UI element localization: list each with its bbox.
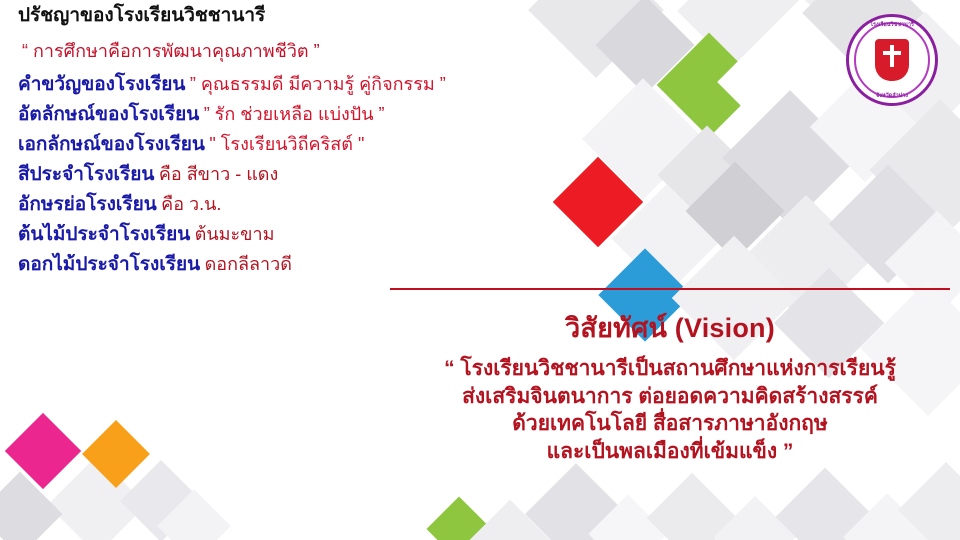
vision-title: วิสัยทัศน์ (Vision) <box>390 306 950 349</box>
logo-text-bottom: จังหวัดลำปาง <box>846 92 938 100</box>
vision-title-th: วิสัยทัศน์ ( <box>565 313 684 343</box>
item-value: ดอกลีลาวดี <box>205 254 292 274</box>
item-label: อักษรย่อโรงเรียน <box>18 194 157 215</box>
slide-canvas: ปรัชญาของโรงเรียนวิชชานารี “ การศึกษาคือ… <box>0 0 960 540</box>
list-item: สีประจำโรงเรียน คือ สีขาว - แดง <box>18 165 538 184</box>
vision-text: “ โรงเรียนวิชชานารีเป็นสถานศึกษาแห่งการเ… <box>390 355 950 466</box>
page-title: ปรัชญาของโรงเรียนวิชชานารี <box>18 6 538 25</box>
logo-crest-icon <box>875 39 909 81</box>
item-label: ดอกไม้ประจำโรงเรียน <box>18 254 200 275</box>
vision-line: “ โรงเรียนวิชชานารีเป็นสถานศึกษาแห่งการเ… <box>390 355 950 383</box>
philosophy-quote: “ การศึกษาคือการพัฒนาคุณภาพชีวิต ” <box>18 42 538 60</box>
item-value: คือ ว.น. <box>161 194 221 214</box>
list-item: ต้นไม้ประจำโรงเรียน ต้นมะขาม <box>18 225 538 244</box>
vision-line: และเป็นพลเมืองที่เข้มแข็ง ” <box>390 438 950 466</box>
item-value: ต้นมะขาม <box>195 224 275 244</box>
item-value: ” รัก ช่วยเหลือ แบ่งปัน ” <box>204 104 385 124</box>
vision-line: ส่งเสริมจินตนาการ ต่อยอดความคิดสร้างสรรค… <box>390 383 950 411</box>
list-item: อักษรย่อโรงเรียน คือ ว.น. <box>18 195 538 214</box>
item-label: ต้นไม้ประจำโรงเรียน <box>18 224 190 245</box>
vision-title-en: Vision <box>684 313 766 343</box>
item-label: อัตลักษณ์ของโรงเรียน <box>18 104 199 125</box>
item-value: " โรงเรียนวิถีคริสต์ " <box>209 134 364 154</box>
vision-line: ด้วยเทคโนโลยี สื่อสารภาษาอังกฤษ <box>390 410 950 438</box>
list-item: อัตลักษณ์ของโรงเรียน ” รัก ช่วยเหลือ แบ่… <box>18 105 538 124</box>
item-value: ” คุณธรรมดี มีความรู้ คู่กิจกรรม ” <box>190 74 446 94</box>
list-item: คำขวัญของโรงเรียน ” คุณธรรมดี มีความรู้ … <box>18 75 538 94</box>
item-label: เอกลักษณ์ของโรงเรียน <box>18 134 205 155</box>
philosophy-text-block: ปรัชญาของโรงเรียนวิชชานารี “ การศึกษาคือ… <box>18 6 538 285</box>
item-label: สีประจำโรงเรียน <box>18 164 154 185</box>
school-crest-logo: โรงเรียนวิชชานารี จังหวัดลำปาง <box>846 14 938 106</box>
logo-text-top: โรงเรียนวิชชานารี <box>846 21 938 29</box>
item-value: คือ สีขาว - แดง <box>159 164 278 184</box>
decorative-square <box>0 472 62 540</box>
vision-title-close: ) <box>766 313 775 343</box>
item-label: คำขวัญของโรงเรียน <box>18 74 185 95</box>
vision-block: วิสัยทัศน์ (Vision) “ โรงเรียนวิชชานารีเ… <box>390 288 950 466</box>
list-item: เอกลักษณ์ของโรงเรียน " โรงเรียนวิถีคริสต… <box>18 135 538 154</box>
list-item: ดอกไม้ประจำโรงเรียน ดอกลีลาวดี <box>18 255 538 274</box>
